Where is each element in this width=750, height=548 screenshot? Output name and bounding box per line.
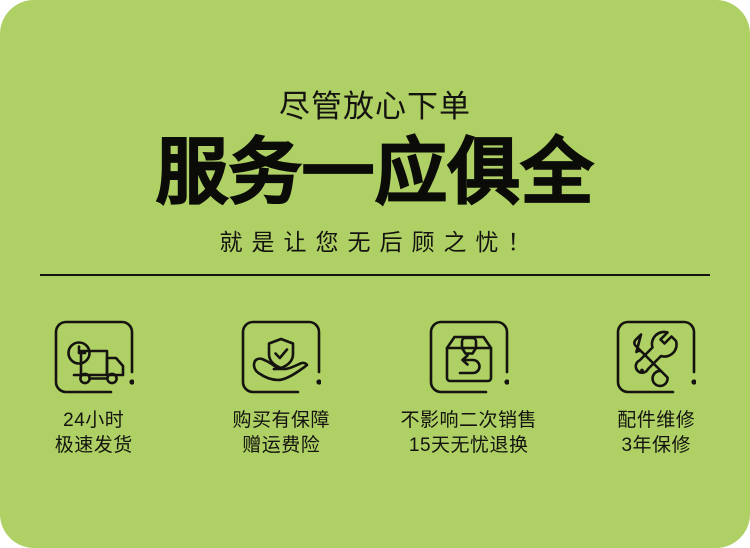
feature-label-line1: 购买有保障 — [232, 410, 330, 431]
feature-label-line1: 配件维修 — [617, 410, 695, 431]
feature-item-purchase-protection: 购买有保障 赠运费险 — [188, 320, 376, 458]
feature-item-returns: 不影响二次销售 15天无忧退换 — [375, 320, 563, 458]
truck-clock-icon — [54, 320, 134, 394]
hand-shield-check-icon — [241, 320, 321, 394]
wrench-screwdriver-icon — [616, 320, 696, 394]
feature-label-line1: 24小时 — [63, 410, 124, 431]
feature-label: 购买有保障 赠运费险 — [232, 408, 330, 458]
feature-label-line2: 15天无忧退换 — [400, 433, 537, 458]
feature-label-line1: 不影响二次销售 — [400, 410, 537, 431]
feature-label-line2: 极速发货 — [55, 433, 133, 458]
feature-item-fast-shipping: 24小时 极速发货 — [0, 320, 188, 458]
feature-label-line2: 3年保修 — [617, 433, 695, 458]
feature-label: 不影响二次销售 15天无忧退换 — [400, 408, 537, 458]
feature-label: 配件维修 3年保修 — [617, 408, 695, 458]
service-banner: 尽管放心下单 服务一应俱全 就是让您无后顾之忧！ — [0, 0, 750, 548]
box-return-arrow-icon — [429, 320, 509, 394]
feature-label: 24小时 极速发货 — [55, 408, 133, 458]
horizontal-divider — [40, 274, 710, 276]
feature-item-repair-warranty: 配件维修 3年保修 — [563, 320, 750, 458]
feature-list: 24小时 极速发货 购买有保障 — [0, 320, 750, 458]
banner-eyebrow: 尽管放心下单 — [0, 89, 750, 125]
banner-title: 服务一应俱全 — [0, 131, 750, 215]
feature-label-line2: 赠运费险 — [232, 433, 330, 458]
banner-subtitle: 就是让您无后顾之忧！ — [0, 227, 750, 257]
